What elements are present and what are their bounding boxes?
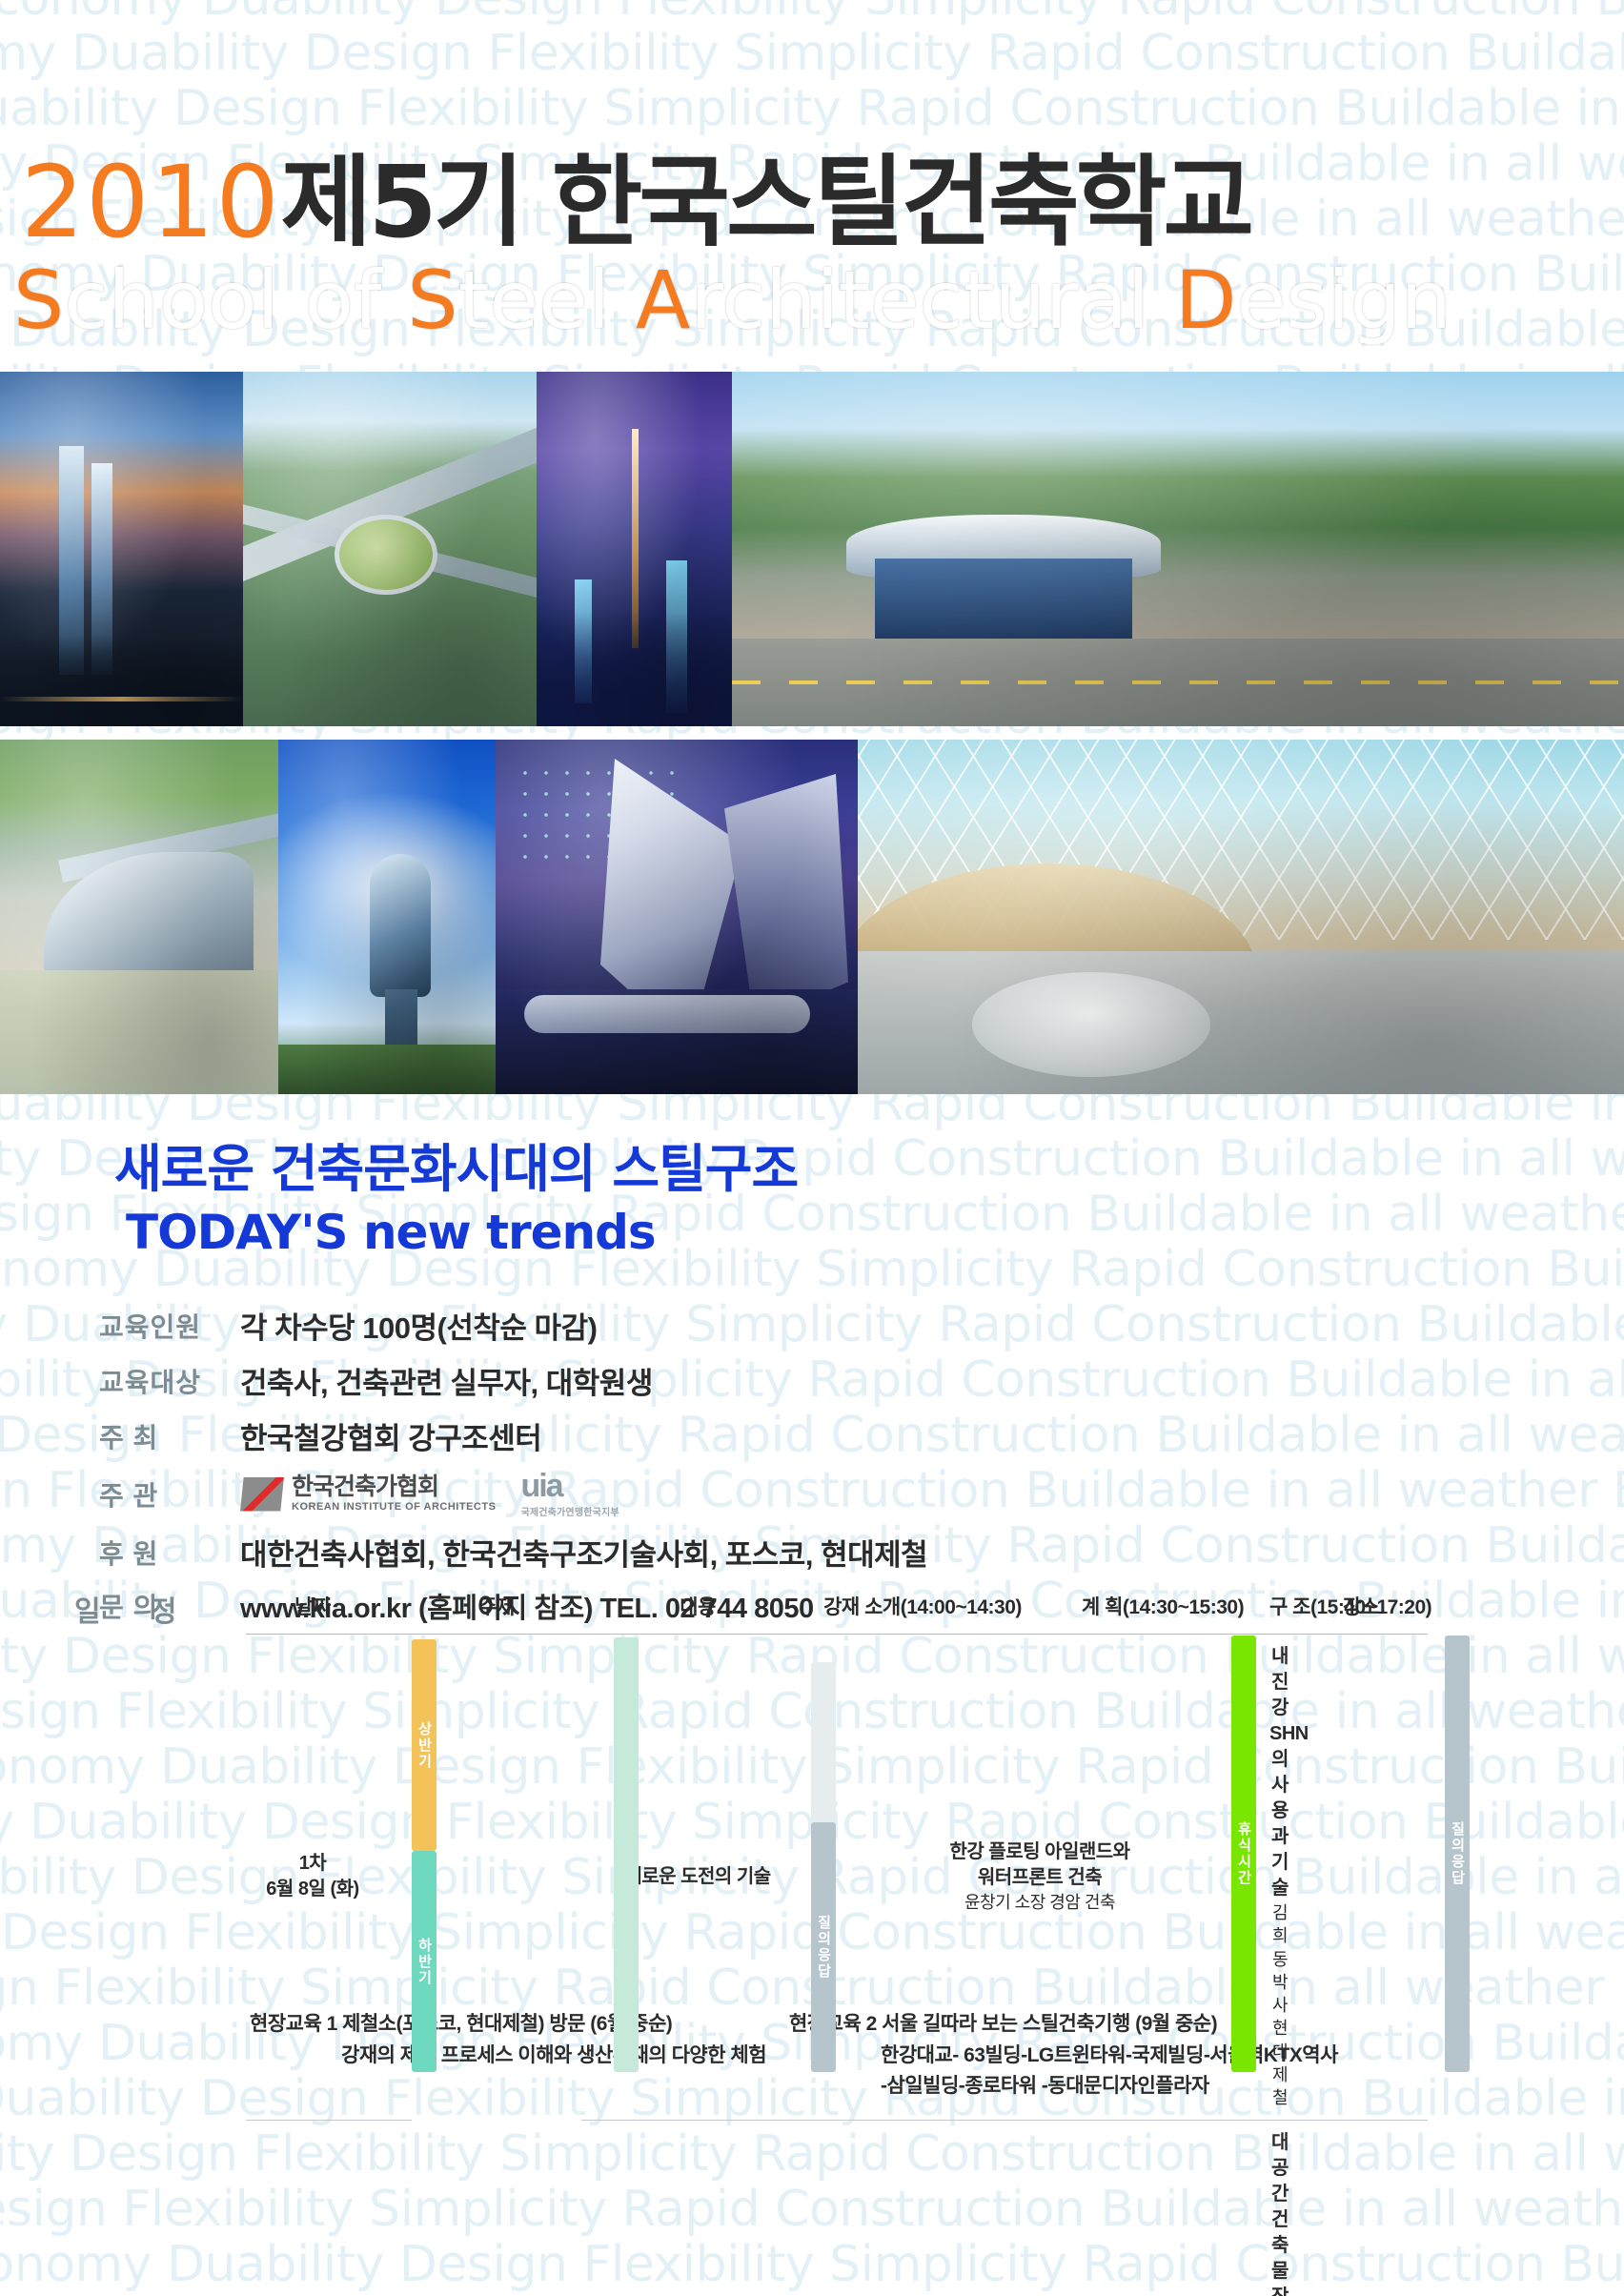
cell-bar-spacer [379, 2120, 412, 2296]
cell-structure-2: 대공간 건축물 장스팬 구조 계획과 시공 김대중 삼성물산 [1266, 2120, 1294, 2296]
page-title: 2010제5기 한국스틸건축학교 [21, 152, 1250, 252]
photo-curved-facade [496, 740, 858, 1094]
content-1-line-1: 새로운 도전의 기술 [618, 1864, 778, 1890]
footnote-1-line-1: 강재의 제작 프로세스 이해와 생산부재의 다양한 체험 [250, 2041, 766, 2072]
info-row-host: 주 최 한국철강협회 강구조센터 [99, 1414, 1052, 1457]
title-year: 2010 [21, 144, 281, 260]
header-steel: 강재 소개(14:00~14:30) [814, 1586, 1031, 1635]
info-row-organizer: 주 관 한국건축가협회 KOREAN INSTITUTE OF ARCHITEC… [99, 1470, 1052, 1518]
kia-logo-sub: KOREAN INSTITUTE OF ARCHITECTS [292, 1502, 496, 1513]
bar-upper-half-label: 상반기 [415, 1721, 435, 1770]
schedule-section-label: 일 정 [74, 1588, 198, 1630]
info-label-sponsor: 후 원 [99, 1534, 240, 1572]
headline-english: TODAY'S new trends [126, 1205, 656, 1260]
info-value-capacity: 각 차수당 100명(선착순 마감) [240, 1304, 597, 1347]
plan-1-line-1: 한강 플로팅 아일랜드와 [818, 1839, 1262, 1865]
photo-atrium-interior [858, 740, 1624, 1094]
footnote-2-title: 현장교육 2 서울 길따라 보는 스틸건축기행 (9월 중순) [789, 2013, 1217, 2035]
bar-theme-divider [614, 1637, 639, 2072]
cell-plan-2: 비정형 건축의 미학과 디자인 방법 Theo Sarantoglou Lali… [814, 2120, 1266, 2296]
structure-2-line-1: 대공간 건축물 장스팬 [1269, 2130, 1290, 2296]
header-spacer-1 [379, 1586, 412, 1635]
bar-qa-right: 질의응답 [1445, 1636, 1470, 2072]
cell-date-2: 2차 7월 6일 화 [246, 2120, 379, 2296]
bar-lower-half: 하반기 [412, 1851, 436, 2072]
structure-1-speaker: 김희동 박사 [1269, 1901, 1290, 2017]
header-spacer-2 [581, 1586, 614, 1635]
header-plan: 계 획(14:30~15:30) [1060, 1586, 1266, 1635]
structure-1-line-1: 내진강SHN의 사용과 기술 [1269, 1644, 1290, 1901]
organizer-logos: 한국건축가협회 KOREAN INSTITUTE OF ARCHITECTS u… [240, 1470, 619, 1518]
bar-rest-time: 휴식시간 [1231, 1636, 1256, 2072]
bar-rest-time-label: 휴식시간 [1234, 1821, 1254, 1886]
bar-upper-half: 상반기 [412, 1639, 436, 1851]
date-1: 6월 8일 (화) [250, 1877, 376, 1902]
header-date: 날짜 [246, 1586, 379, 1635]
header-spacer-3 [782, 1586, 814, 1635]
info-value-sponsor: 대한건축사협회, 한국건축구조기술사회, 포스코, 현대제철 [240, 1531, 927, 1574]
uia-logo-sub: 국제건축가연맹한국지부 [520, 1504, 619, 1518]
headline-korean: 새로운 건축문화시대의 스틸구조 [114, 1127, 798, 1202]
schedule-header-row: 날짜 주제 내용 강재 소개(14:00~14:30) 계 획(14:30~15… [246, 1586, 1428, 1635]
title-korean: 제5기 한국스틸건축학교 [281, 144, 1250, 260]
info-label-host: 주 최 [99, 1417, 240, 1455]
info-value-host: 한국철강협회 강구조센터 [240, 1414, 541, 1457]
kia-mark-icon [240, 1477, 284, 1512]
header-structure: 구 조(15:40~17:20) [1266, 1586, 1294, 1635]
cell-place-2: 한국과학기술 단체총연합회 국제회의실 소회의실2 [1294, 2120, 1428, 2296]
session-1: 1차 [250, 1851, 376, 1877]
info-row-audience: 교육대상 건축사, 건축관련 실무자, 대학원생 [99, 1359, 1052, 1402]
cell-bar-spacer [581, 2120, 614, 2296]
poster-root: Economy Duability Design Flexibility Sim… [0, 0, 1624, 2296]
footnote-2-line-2: -삼일빌딩-종로타워 -동대문디자인플라자 [789, 2071, 1338, 2103]
kia-logo: 한국건축가협회 KOREAN INSTITUTE OF ARCHITECTS [240, 1475, 496, 1513]
kia-logo-name: 한국건축가협회 [292, 1475, 496, 1499]
header-theme: 주제 [412, 1586, 581, 1635]
info-label-organizer: 주 관 [99, 1475, 240, 1514]
photo-row-bottom [0, 740, 1624, 1094]
watermark-line: Economy Duability Design Flexibility Sim… [0, 29, 1624, 78]
bar-qa-left-lower: 질의응답 [811, 1822, 836, 2072]
header-spacer-4 [1031, 1586, 1060, 1635]
watermark-line: Economy Duability Design Flexibility Sim… [0, 84, 1624, 133]
footnote-1-title: 현장교육 1 제철소(포스코, 현대제철) 방문 (6월 중순) [250, 2013, 672, 2035]
photo-night-skyline [537, 372, 732, 726]
info-label-audience: 교육대상 [99, 1362, 240, 1400]
bar-qa-right-label: 질의응답 [1448, 1821, 1468, 1886]
info-value-audience: 건축사, 건축관련 실무자, 대학원생 [240, 1359, 653, 1402]
photo-station-building [732, 372, 1624, 726]
info-row-sponsor: 후 원 대한건축사협회, 한국건축구조기술사회, 포스코, 현대제철 [99, 1531, 1052, 1574]
cell-content-2: 현대건축의 거센변화, 비정형 건축 [614, 2120, 782, 2296]
photo-observation-tower [278, 740, 496, 1094]
footnote-field-trip-1: 현장교육 1 제철소(포스코, 현대제철) 방문 (6월 중순) 강재의 제작 … [250, 2009, 766, 2071]
uia-logo: uia 국제건축가연맹한국지부 [520, 1470, 619, 1518]
photo-airport-aerial [243, 372, 537, 726]
cell-theme: 새로운 건축문화시대의 스틸구조 -TODAY'S new trends [412, 1635, 581, 2296]
uia-logo-name: uia [520, 1470, 619, 1502]
bar-lower-half-label: 하반기 [415, 1938, 435, 1986]
info-row-capacity: 교육인원 각 차수당 100명(선착순 마감) [99, 1304, 1052, 1347]
photo-row-top [0, 372, 1624, 726]
cell-bar-spacer [782, 2120, 814, 2296]
plan-1-line-2: 워터프론트 건축 [818, 1865, 1262, 1891]
subtitle-english: School of Steel Architectural Design [13, 254, 1451, 347]
photo-twin-towers [0, 372, 243, 726]
photo-ktx-station [0, 740, 278, 1094]
bar-qa-left-upper [811, 1662, 836, 1822]
header-content: 내용 [614, 1586, 782, 1635]
watermark-line: Economy Duability Design Flexibility Sim… [0, 0, 1624, 23]
info-label-capacity: 교육인원 [99, 1307, 240, 1345]
bar-qa-left-label: 질의응답 [814, 1915, 834, 1980]
plan-1-speaker: 윤창기 소장 경암 건축 [818, 1891, 1262, 1914]
